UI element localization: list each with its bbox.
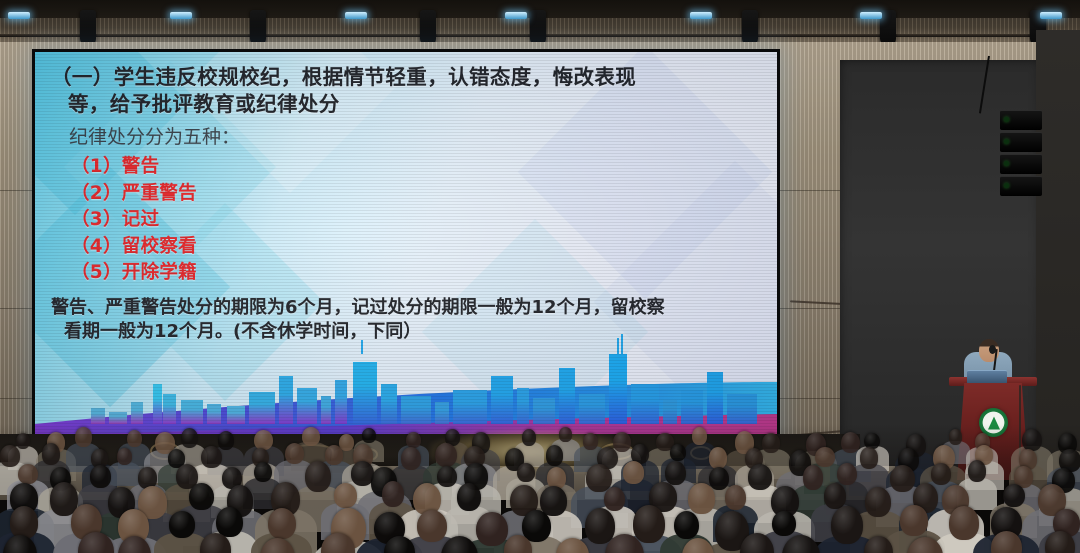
audience-head: [417, 510, 447, 542]
discipline-list: （1）警告（2）严重警告（3）记过（4）留校察看（5）开除学籍: [51, 154, 767, 287]
skyline-building: [631, 384, 659, 424]
audience-head: [285, 443, 304, 465]
audience-head: [181, 428, 198, 448]
skyline-building: [153, 384, 162, 424]
skyline-building: [353, 362, 377, 424]
skyline-building: [609, 354, 627, 424]
skyline-building: [707, 372, 723, 424]
audience-head: [254, 462, 272, 483]
audience-head: [325, 445, 344, 465]
audience-head: [218, 431, 235, 450]
audience-head: [991, 531, 1022, 553]
audience-head: [382, 481, 404, 507]
skyline-building: [321, 396, 331, 424]
audience-head: [890, 465, 915, 492]
slide-footer: 警告、严重警告处分的期限为6个月，记过处分的期限一般为12个月，留校察 看期一般…: [51, 296, 767, 344]
audience-head: [692, 427, 707, 445]
skyline-building: [579, 394, 605, 424]
audience-head: [169, 511, 195, 538]
audience-head: [841, 432, 860, 454]
audience-head: [583, 433, 598, 450]
audience-head: [1003, 484, 1025, 507]
audience-head: [522, 429, 536, 445]
skyline-building: [91, 408, 105, 424]
audience-head: [559, 427, 573, 442]
skyline-building: [401, 396, 431, 424]
audience-head: [476, 512, 508, 546]
audience-head: [362, 428, 376, 443]
audience-head: [968, 460, 986, 482]
skyline-building: [435, 402, 449, 424]
speaker-box: [1000, 110, 1042, 130]
audience-head: [931, 463, 952, 485]
audience-head: [18, 464, 38, 484]
audience-head: [1022, 429, 1041, 451]
audience-head: [90, 465, 111, 488]
stage-spotlight-icon: [880, 10, 896, 44]
audience-head: [674, 511, 699, 540]
skyline-building: [681, 390, 703, 424]
ceiling-led-fixture: [690, 12, 712, 19]
audience-head: [117, 448, 133, 465]
slide-subtitle: 纪律处分分为五种：: [51, 125, 767, 150]
speaker-box: [1000, 176, 1042, 196]
slide-footer-line2: 看期一般为12个月。(不含休学时间，下同）: [51, 320, 767, 344]
audience-head: [457, 483, 481, 511]
audience-head: [201, 446, 222, 468]
audience-head: [949, 506, 979, 540]
audience-head: [670, 444, 686, 461]
audience-head: [831, 506, 863, 544]
audience-head: [837, 463, 857, 486]
audience-head: [42, 443, 60, 464]
student-audience: [0, 424, 1080, 553]
audience-head: [406, 432, 421, 448]
audience-head: [772, 511, 796, 536]
ceiling-led-fixture: [1040, 12, 1062, 19]
audience-head: [437, 466, 457, 487]
audience-head: [75, 427, 92, 446]
speaker-box: [1000, 154, 1042, 174]
audience-head: [189, 483, 214, 510]
audience-head: [302, 427, 320, 446]
laptop-on-podium[interactable]: [967, 370, 1007, 384]
skyline-building: [297, 388, 317, 424]
slide-footer-line1: 警告、严重警告处分的期限为6个月，记过处分的期限一般为12个月，留校察: [51, 297, 665, 318]
audience-head: [334, 483, 357, 508]
skyline-building: [453, 390, 487, 424]
audience-head: [613, 432, 631, 452]
stage-spotlight-icon: [742, 10, 758, 44]
ceiling-led-fixture: [860, 12, 882, 19]
audience-head: [268, 508, 296, 540]
audience-head: [305, 461, 331, 492]
speaker-box: [1000, 132, 1042, 152]
stage-spotlight-icon: [420, 10, 436, 44]
slide-title-line2: 等，给予批评教育或纪律处分: [51, 91, 767, 118]
discipline-item: （3）记过: [71, 207, 767, 234]
audience-head: [401, 447, 421, 470]
stage-spotlight-icon: [80, 10, 96, 44]
audience-head: [435, 443, 457, 468]
audience-head: [16, 433, 30, 449]
audience-head: [547, 467, 566, 489]
skyline-building: [131, 402, 143, 424]
skyline-building: [249, 392, 275, 424]
line-array-loudspeaker: [1000, 110, 1042, 196]
discipline-item: （5）开除学籍: [71, 260, 767, 287]
audience-head: [709, 467, 729, 490]
audience-head: [633, 505, 665, 543]
skyline-building: [163, 394, 176, 424]
audience-head: [665, 461, 686, 486]
audience-head: [860, 447, 878, 468]
audience-head: [10, 506, 39, 538]
audience-head: [127, 430, 142, 447]
audience-head: [803, 465, 824, 490]
audience-head: [865, 487, 891, 517]
skyline-building: [533, 398, 555, 424]
stage-spotlight-icon: [530, 10, 546, 44]
microphone-head: [989, 345, 996, 354]
right-edge-panel: [1036, 30, 1080, 480]
slide-content: （一）学生违反校规校纪，根据情节轻重，认错态度，悔改表现 等，给予批评教育或纪律…: [51, 64, 767, 344]
discipline-item: （1）警告: [71, 154, 767, 181]
ceiling-led-fixture: [505, 12, 527, 19]
skyline-building: [181, 400, 203, 424]
skyline-building: [227, 406, 245, 424]
skyline-building: [381, 384, 397, 424]
skyline-building: [491, 376, 513, 424]
audience-head: [585, 508, 615, 544]
skyline-building: [663, 400, 677, 424]
skyline-building: [109, 412, 127, 424]
skyline-building: [727, 394, 757, 424]
slide-title: （一）学生违反校规校纪，根据情节轻重，认错态度，悔改表现 等，给予批评教育或纪律…: [51, 64, 767, 118]
skyline-building: [279, 376, 293, 424]
audience-head: [709, 447, 728, 469]
audience-head: [517, 463, 535, 483]
discipline-item: （2）严重警告: [71, 181, 767, 208]
audience-head: [0, 445, 20, 467]
audience-head: [688, 483, 715, 514]
audience-head: [725, 485, 746, 510]
audience-head: [824, 483, 846, 509]
audience-member: [108, 462, 141, 487]
skyline-building: [559, 368, 575, 424]
audience-head: [949, 429, 963, 444]
audience-head: [748, 464, 772, 490]
audience-head: [546, 445, 564, 466]
led-presentation-screen[interactable]: （一）学生违反校规校纪，根据情节轻重，认错态度，悔改表现 等，给予批评教育或纪律…: [35, 52, 777, 442]
slide-title-line1: （一）学生违反校规校纪，根据情节轻重，认错态度，悔改表现: [51, 65, 636, 89]
stage-spotlight-icon: [250, 10, 266, 44]
auditorium-scene: （一）学生违反校规校纪，根据情节轻重，认错态度，悔改表现 等，给予批评教育或纪律…: [0, 0, 1080, 553]
audience-head: [815, 447, 834, 468]
ceiling-led-fixture: [170, 12, 192, 19]
audience-head: [254, 430, 273, 450]
ceiling-led-fixture: [345, 12, 367, 19]
skyline-building: [335, 380, 347, 424]
discipline-item: （4）留校察看: [71, 234, 767, 261]
audience-head: [762, 433, 780, 453]
skyline-building: [517, 388, 529, 424]
audience-head: [604, 487, 625, 511]
audience-head: [623, 461, 644, 483]
audience-head: [900, 505, 929, 535]
audience-head: [216, 507, 243, 537]
ceiling-led-fixture: [8, 12, 30, 19]
skyline-building: [207, 404, 221, 424]
